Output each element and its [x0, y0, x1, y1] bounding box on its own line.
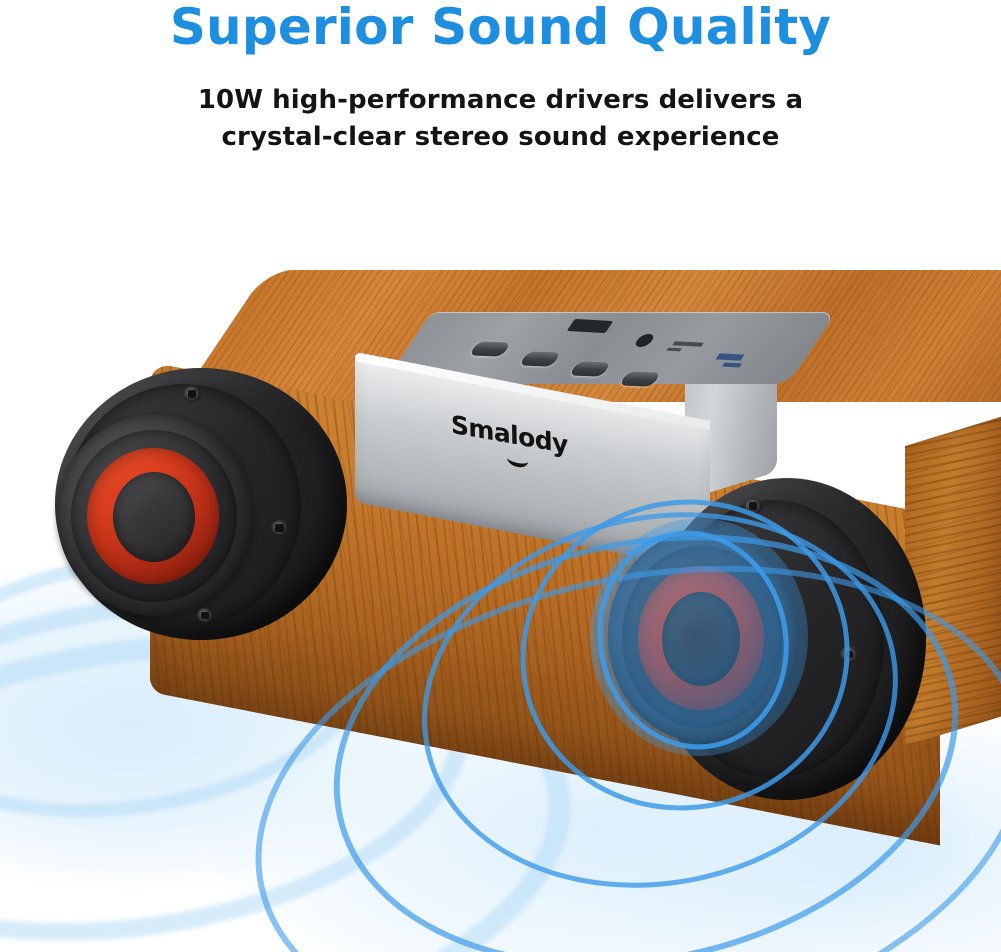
driver-dustcap-right [662, 592, 740, 686]
driver-screw-right-top [744, 498, 762, 514]
indicator-mark-3 [722, 363, 742, 368]
driver-screw-left-bottom [197, 608, 213, 623]
indicator-mark-2 [715, 353, 744, 360]
driver-screw-left-right [271, 520, 288, 536]
driver-dustcap-left [113, 472, 195, 562]
speaker-driver-right [648, 478, 926, 800]
usb-port[interactable] [567, 319, 614, 333]
driver-screw-left-top [183, 386, 201, 402]
driver-screw-right-side [840, 646, 858, 663]
indicator-mark-1 [666, 348, 682, 352]
product-marketing-banner: Superior Sound Quality 10W high-performa… [0, 0, 1001, 952]
product-photo: Smalody [0, 0, 1001, 952]
speaker-driver-left [55, 368, 347, 640]
